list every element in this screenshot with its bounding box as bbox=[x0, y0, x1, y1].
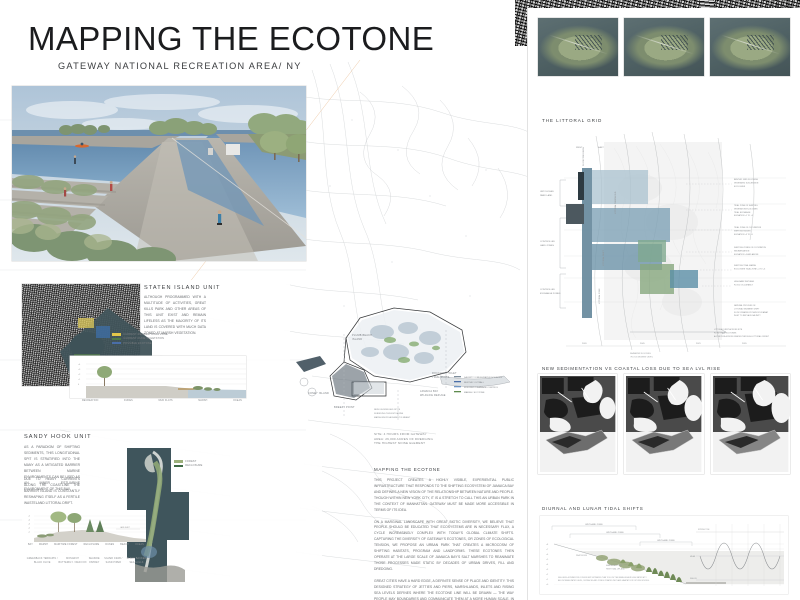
svg-text:2045: 2045 bbox=[640, 343, 645, 345]
svg-text:SPRING TIDE: SPRING TIDE bbox=[698, 529, 710, 531]
svg-text:ELEVATION +1 TO +3: ELEVATION +1 TO +3 bbox=[734, 214, 753, 217]
essay-paragraph-3: GREAT CITIES HAVE A HARD EDGE, A DEFINIT… bbox=[374, 579, 514, 600]
littoral-grid-diagram: THE LITTORAL GRID bbox=[536, 118, 794, 358]
staten-island-zone-labels: RECREATION DUNES MUD FLATS MARSH OCEAN bbox=[82, 400, 242, 402]
svg-text:ACCRETION ACROSS SPACES THROUG: ACCRETION ACROSS SPACES THROUGH LITTORAL… bbox=[714, 335, 770, 338]
svg-text:+8: +8 bbox=[546, 544, 548, 546]
svg-text:ELEVATION +5 AND ABOVE: ELEVATION +5 AND ABOVE bbox=[734, 253, 759, 256]
page-subtitle: GATEWAY NATIONAL RECREATION AREA/ NY bbox=[58, 61, 302, 71]
species-label: MONARCH BUTTERFLY / RED FOX bbox=[59, 558, 87, 565]
legend-label: CURRENT DUNE VEGETATION bbox=[123, 337, 164, 340]
legend-item: CURRENT RECREATIONAL ZONE bbox=[112, 333, 212, 336]
svg-text:+3: +3 bbox=[546, 569, 548, 571]
sandy-hook-species-labels: GREENBACK TERRAPIN / BLACK OLIVE MONARCH… bbox=[26, 558, 148, 565]
species-label: GREENBACK TERRAPIN / BLACK OLIVE bbox=[26, 558, 59, 565]
legend-swatch-forest bbox=[174, 460, 183, 462]
svg-text:SEDIMENTATION: SEDIMENTATION bbox=[734, 249, 750, 252]
svg-text:WETLAND ZONE: WETLAND ZONE bbox=[585, 523, 603, 526]
svg-text:FLOOD OCCUPANCY: FLOOD OCCUPANCY bbox=[734, 283, 754, 286]
svg-text:ROCKAWAY INLET: ROCKAWAY INLET bbox=[432, 372, 457, 375]
svg-text:NEW UN-DREDGED SPITS: NEW UN-DREDGED SPITS bbox=[374, 409, 401, 411]
sandy-hook-zone-labels: BAY MARSH MARITIME FOREST RECLOSURE DUNE… bbox=[28, 544, 144, 546]
svg-text:SUBSIDING THIS ESTUARINE: SUBSIDING THIS ESTUARINE bbox=[374, 412, 404, 415]
legend-label: RECLOSURE bbox=[185, 464, 202, 467]
zone-label: MARSH bbox=[198, 400, 207, 402]
svg-text:SHIFTING RIDGES: SHIFTING RIDGES bbox=[734, 230, 751, 232]
svg-text:WETLAND ZONE: WETLAND ZONE bbox=[657, 539, 675, 542]
svg-text:+1: +1 bbox=[546, 579, 548, 581]
svg-text:INLET TO REPLACE SALINITY: INLET TO REPLACE SALINITY bbox=[734, 314, 761, 317]
tidal-header: DIURNAL AND LUNAR TIDAL SHIFTS bbox=[542, 506, 644, 511]
zone-label: DUNES bbox=[124, 400, 133, 402]
svg-text:SHIFTING TIDAL MARSH: SHIFTING TIDAL MARSH bbox=[734, 264, 757, 267]
zone-label: OCEAN bbox=[233, 400, 242, 402]
legend-swatch-ecotone bbox=[112, 342, 121, 344]
species-label: BLACK BACKED SEA GULLS bbox=[125, 558, 148, 565]
svg-text:ECOLOGIES: ECOLOGIES bbox=[734, 186, 746, 188]
zone-label: RECREATION bbox=[82, 400, 98, 402]
svg-text:2095: 2095 bbox=[742, 343, 747, 345]
svg-text:TIDAL ZONE OF SHIFTING: TIDAL ZONE OF SHIFTING bbox=[734, 204, 758, 207]
zone-label: OCEAN bbox=[135, 544, 144, 546]
sandy-hook-section: +5+4+3 +2+1 LAND SHIFT bbox=[24, 510, 146, 542]
svg-text:2020: 2020 bbox=[582, 343, 587, 345]
svg-text:PARK LAND: PARK LAND bbox=[540, 194, 553, 197]
site-render-row bbox=[538, 18, 790, 78]
legend-label: CURRENT RECREATIONAL ZONE bbox=[123, 333, 168, 336]
essay-header: MAPPING THE ECOTONE bbox=[374, 467, 514, 472]
zone-label: MUD FLATS bbox=[159, 400, 173, 402]
svg-text:TIDAL FLATS: TIDAL FLATS bbox=[432, 376, 450, 379]
svg-text:+2: +2 bbox=[28, 528, 30, 530]
svg-text:EXCHANGE ZONES: EXCHANGE ZONES bbox=[540, 292, 561, 295]
svg-text:LITTORAL DRIFT ACROSS SITE: LITTORAL DRIFT ACROSS SITE bbox=[714, 328, 743, 331]
svg-text:SEA LEVEL ALTERATIONS CONGRUEN: SEA LEVEL ALTERATIONS CONGRUENT ESTIMATE… bbox=[558, 576, 647, 579]
svg-text:BENTHIC OUTFALL: BENTHIC OUTFALL bbox=[464, 381, 485, 384]
right-panel: THE LITTORAL GRID bbox=[528, 8, 800, 600]
sedimentation-header: NEW SEDIMENTATION VS COASTAL LOSS DUE TO… bbox=[542, 366, 721, 371]
svg-text:HIGH BANK WETLAND: HIGH BANK WETLAND bbox=[734, 280, 755, 283]
species-label: SEASIDE OSPREY bbox=[87, 558, 102, 565]
svg-text:TIDAL EXCHANGE: TIDAL EXCHANGE bbox=[734, 211, 751, 214]
svg-text:LAND ZONES: LAND ZONES bbox=[540, 244, 555, 247]
svg-text:MARSH SECTION: MARSH SECTION bbox=[606, 564, 622, 567]
svg-text:BENTHIC GRID FLOODING: BENTHIC GRID FLOODING bbox=[734, 179, 758, 181]
svg-text:+2: +2 bbox=[546, 574, 548, 576]
svg-text:VEGETATION ECOLOGIES: VEGETATION ECOLOGIES bbox=[734, 207, 758, 210]
staten-island-unit-panel: STATEN ISLAND UNIT ALTHOUGH PROGRAMMED W… bbox=[22, 280, 290, 412]
svg-text:MARSH / ECOTONE: MARSH / ECOTONE bbox=[464, 391, 485, 394]
svg-text:JAMAICA BAY: JAMAICA BAY bbox=[420, 390, 439, 393]
svg-text:PLUMB BEACH: PLUMB BEACH bbox=[352, 334, 372, 337]
recreation-zone-patch bbox=[78, 318, 94, 328]
svg-text:HIGH TIDAL UPLAND: HIGH TIDAL UPLAND bbox=[606, 567, 625, 570]
svg-text:LITTORAL SEDIMENT DRIFT: LITTORAL SEDIMENT DRIFT bbox=[734, 307, 760, 310]
svg-text:LITTORAL ZONE: LITTORAL ZONE bbox=[598, 288, 601, 304]
staten-island-body: ALTHOUGH PROGRAMMED WITH A MULTITUDE OF … bbox=[144, 295, 206, 337]
legend-item: POSSIBLE ECOTONE bbox=[112, 342, 212, 345]
svg-text:2070: 2070 bbox=[696, 343, 701, 345]
svg-text:MODIFIED DRAINAGE CONTROL: MODIFIED DRAINAGE CONTROL bbox=[464, 386, 499, 389]
sandy-hook-body-2: DUE TO HEAVY CURRENTS ALONG THE COASTLIN… bbox=[24, 477, 80, 507]
svg-text:SEA LVL: SEA LVL bbox=[690, 577, 697, 580]
svg-text:+5: +5 bbox=[546, 559, 548, 561]
svg-text:+4: +4 bbox=[546, 564, 548, 566]
svg-text:+6: +6 bbox=[546, 554, 548, 556]
sandy-hook-legend: FOREST RECLOSURE bbox=[174, 460, 246, 469]
essay-column: SITE: 4 HOURS FROM GATEWAY AREA: 26,000 … bbox=[374, 432, 514, 600]
sediment-map-2050 bbox=[624, 374, 703, 474]
legend-label: FOREST bbox=[185, 460, 196, 463]
sediment-map-2100 bbox=[711, 374, 790, 474]
species-label: SILVER CRAB / SAND PIPER bbox=[102, 558, 125, 565]
zone-label: DUNES bbox=[105, 544, 114, 546]
sandy-hook-header: SANDY HOOK UNIT bbox=[24, 434, 92, 440]
svg-text:SEAWATER FLOODING: SEAWATER FLOODING bbox=[630, 352, 651, 355]
svg-text:VEGETATED SUCCESSION: VEGETATED SUCCESSION bbox=[734, 181, 759, 184]
zone-label: MARITIME FOREST bbox=[54, 544, 77, 546]
svg-text:WEST: WEST bbox=[576, 147, 583, 149]
svg-text:FLOOD TIDE DELTA: FLOOD TIDE DELTA bbox=[582, 147, 585, 166]
page-title: MAPPING THE ECOTONE bbox=[28, 20, 434, 58]
legend-item: RECLOSURE bbox=[174, 464, 246, 467]
legend-swatch-reclosure bbox=[174, 465, 183, 467]
legend-swatch-recreation bbox=[112, 333, 121, 335]
svg-text:+5: +5 bbox=[28, 516, 30, 518]
svg-text:ELEVATION +3 TO +5: ELEVATION +3 TO +5 bbox=[734, 233, 753, 236]
svg-text:BREEZY POINT: BREEZY POINT bbox=[334, 406, 355, 409]
svg-text:BELOW MEAN WATER LEVEL, DISTAN: BELOW MEAN WATER LEVEL, DISTANCES AND ZO… bbox=[558, 579, 650, 582]
zone-label: BAY bbox=[28, 544, 33, 546]
svg-text:MARSH ENCROACHMENT IS MEANT: MARSH ENCROACHMENT IS MEANT bbox=[374, 416, 411, 419]
svg-text:+3: +3 bbox=[28, 524, 30, 526]
ecotone-patch bbox=[96, 326, 110, 338]
jamaica-bay-map: PLUMB BEACHISLAND CONEY ISLAND BREEZY PO… bbox=[290, 290, 522, 422]
hero-perspective-render bbox=[12, 86, 306, 261]
essay-paragraph-2: ON A MARGINAL LANDSCAPE WITH GREAT BIOTI… bbox=[374, 520, 514, 573]
legend-label: POSSIBLE ECOTONE bbox=[123, 342, 152, 345]
staten-island-section: +4+3+2 +10 bbox=[70, 356, 246, 398]
sedimentation-row bbox=[538, 374, 790, 474]
sediment-map-2020 bbox=[538, 374, 617, 474]
essay-paragraph-1: THIS PROJECT CREATES A HIGHLY VISIBLE, E… bbox=[374, 478, 514, 514]
svg-text:WETLAND ZONE: WETLAND ZONE bbox=[606, 531, 624, 534]
zone-label: RECLOSURE bbox=[84, 544, 100, 546]
land-shift-label: LAND SHIFT bbox=[120, 526, 130, 529]
svg-text:WILDLIFE REFUGE: WILDLIFE REFUGE bbox=[420, 394, 446, 397]
svg-text:ISLAND: ISLAND bbox=[352, 338, 362, 341]
svg-text:EAST: EAST bbox=[598, 146, 604, 149]
presentation-board: 0227 MAPPING THE ECOTONE GATEWAY NATIONA… bbox=[0, 0, 800, 600]
svg-text:UNTOUCHED: UNTOUCHED bbox=[540, 191, 554, 193]
svg-text:ECOLOGIES TIDAL ZONE +4 TO +6: ECOLOGIES TIDAL ZONE +4 TO +6 bbox=[734, 267, 765, 270]
essay-meta-2: THE HIGHEST NOISE ELEMENT bbox=[374, 441, 514, 446]
svg-text:CONEY ISLAND: CONEY ISLAND bbox=[308, 392, 329, 395]
svg-text:LITTORAL DRIFT: LITTORAL DRIFT bbox=[602, 249, 605, 266]
svg-text:+1: +1 bbox=[28, 532, 30, 534]
svg-text:CONTROLLED: CONTROLLED bbox=[540, 241, 555, 243]
site-render-phase-2 bbox=[624, 18, 704, 76]
zone-label: MARSH bbox=[39, 544, 48, 546]
sandy-hook-unit-panel: SANDY HOOK UNIT AS A PARADIGM OF SHIFTIN… bbox=[22, 432, 322, 592]
site-render-phase-1 bbox=[538, 18, 618, 76]
svg-text:NATURAL PROCESS OF: NATURAL PROCESS OF bbox=[734, 304, 756, 307]
legend-item: FOREST bbox=[174, 460, 246, 463]
staten-island-legend: CURRENT RECREATIONAL ZONE CURRENT DUNE V… bbox=[112, 333, 212, 346]
svg-text:LITTORAL THRESHOLD: LITTORAL THRESHOLD bbox=[614, 191, 617, 214]
svg-text:FLOW CREATED BY NEW ROCKAWAY: FLOW CREATED BY NEW ROCKAWAY bbox=[734, 311, 769, 314]
svg-text:PEAT MOSS: PEAT MOSS bbox=[576, 554, 588, 557]
svg-text:CONTROLLED: CONTROLLED bbox=[540, 289, 555, 291]
svg-text:/ FLOOD MOMENT LEVEL: / FLOOD MOMENT LEVEL bbox=[630, 356, 653, 358]
svg-text:SALINITY / FRESHWATER SOURCES: SALINITY / FRESHWATER SOURCES bbox=[464, 376, 503, 379]
svg-text:MEAN: MEAN bbox=[690, 555, 696, 558]
legend-item: CURRENT DUNE VEGETATION bbox=[112, 337, 212, 340]
zone-label: BEACH bbox=[120, 544, 129, 546]
svg-text:SHIFTING ZONES OF OCCUPATION: SHIFTING ZONES OF OCCUPATION bbox=[734, 246, 766, 249]
svg-text:FLOW THRU ECOTONES: FLOW THRU ECOTONES bbox=[714, 332, 737, 334]
svg-text:TIDAL ZONE OF OCCUPATION: TIDAL ZONE OF OCCUPATION bbox=[734, 226, 762, 229]
svg-text:+0: +0 bbox=[546, 584, 548, 586]
staten-island-header: STATEN ISLAND UNIT bbox=[144, 285, 221, 291]
site-render-phase-3 bbox=[710, 18, 790, 76]
tidal-chart: WETLAND ZONE WETLAND ZONE WETLAND ZONE +… bbox=[540, 516, 788, 594]
legend-swatch-dune bbox=[112, 338, 121, 340]
svg-text:+4: +4 bbox=[28, 520, 30, 522]
svg-text:+7: +7 bbox=[546, 549, 548, 551]
